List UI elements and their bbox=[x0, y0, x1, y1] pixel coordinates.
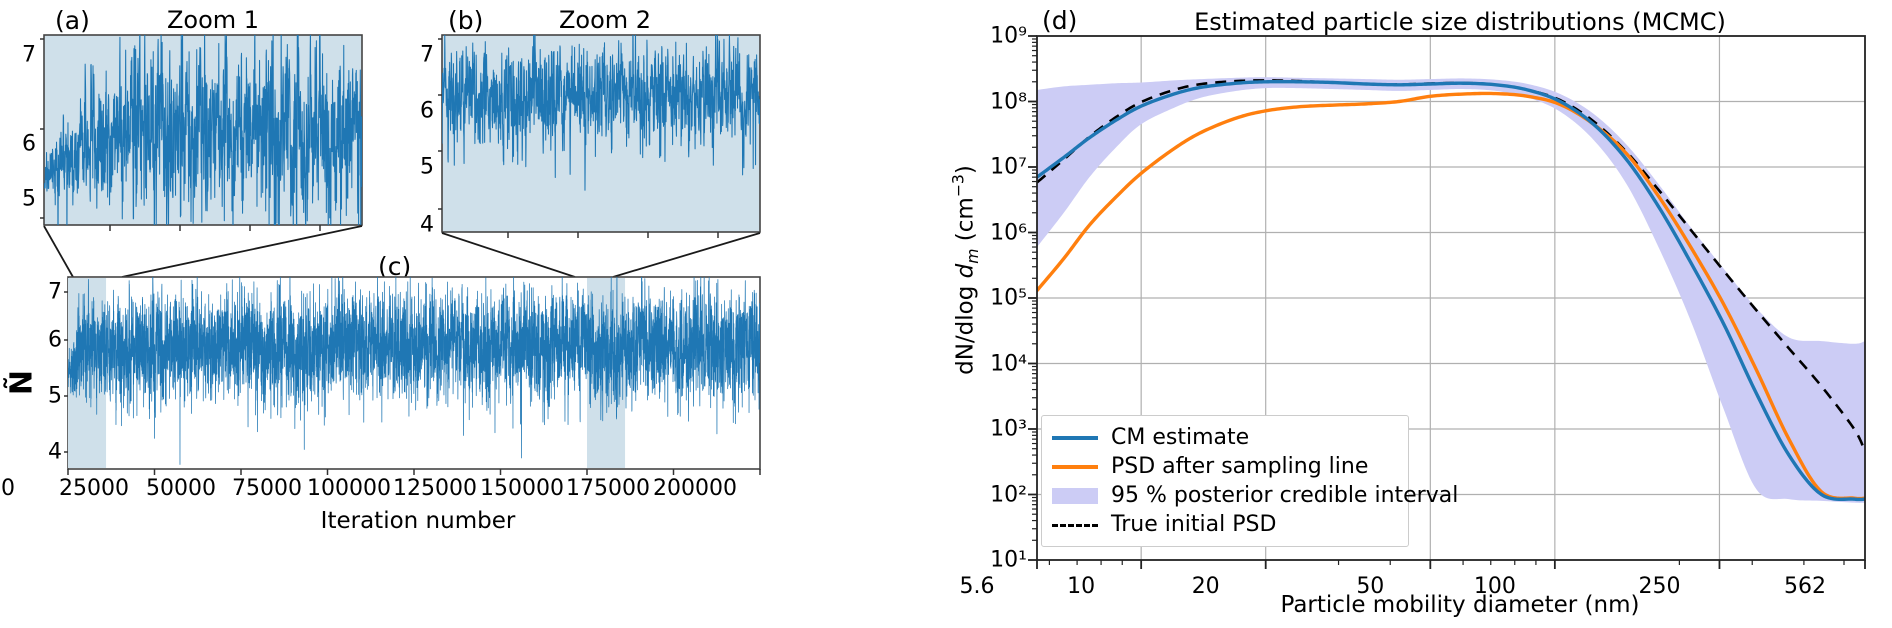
panel-d-ytick-1e5: 10⁵ bbox=[957, 286, 1027, 311]
panel-d-ytick-1e7: 10⁷ bbox=[957, 155, 1027, 180]
figure-root: (a) Zoom 1 7 6 5 (b) Zoom 2 7 6 5 4 bbox=[0, 0, 1892, 628]
legend-item-true-initial-psd[interactable]: True initial PSD bbox=[1052, 510, 1396, 539]
legend-label-true-initial-psd: True initial PSD bbox=[1111, 514, 1276, 536]
panel-d-ytick-1e3: 10³ bbox=[957, 417, 1027, 442]
panel-d-ytick-1e4: 10⁴ bbox=[957, 351, 1027, 376]
legend-item-psd-after-sampling[interactable]: PSD after sampling line bbox=[1052, 452, 1396, 481]
panel-d-legend: CM estimate PSD after sampling line 95 %… bbox=[1041, 415, 1409, 547]
panel-d-plot bbox=[0, 0, 1892, 628]
panel-d-ytick-1e8: 10⁸ bbox=[957, 89, 1027, 114]
legend-item-cm-estimate[interactable]: CM estimate bbox=[1052, 423, 1396, 452]
panel-d-ytick-1e1: 10¹ bbox=[957, 548, 1027, 573]
panel-d-xtick-5-6: 5.6 bbox=[917, 574, 1037, 599]
legend-swatch-psd-after-sampling bbox=[1052, 458, 1098, 476]
panel-d-xlabel: Particle mobility diameter (nm) bbox=[1250, 592, 1670, 618]
legend-item-credible-interval[interactable]: 95 % posterior credible interval bbox=[1052, 481, 1396, 510]
legend-label-psd-after-sampling: PSD after sampling line bbox=[1111, 456, 1368, 478]
legend-label-cm-estimate: CM estimate bbox=[1111, 427, 1249, 449]
panel-d-ytick-1e2: 10² bbox=[957, 482, 1027, 507]
panel-d-xtick-562: 562 bbox=[1745, 574, 1865, 599]
panel-d-xtick-10: 10 bbox=[1021, 574, 1141, 599]
legend-label-credible-interval: 95 % posterior credible interval bbox=[1111, 485, 1458, 507]
legend-swatch-credible-interval bbox=[1052, 487, 1098, 505]
panel-d-ytick-1e6: 10⁶ bbox=[957, 220, 1027, 245]
panel-d-xtick-20: 20 bbox=[1146, 574, 1266, 599]
legend-swatch-true-initial-psd bbox=[1052, 516, 1098, 534]
legend-swatch-cm-estimate bbox=[1052, 429, 1098, 447]
panel-d-ytick-1e9: 10⁹ bbox=[957, 24, 1027, 49]
